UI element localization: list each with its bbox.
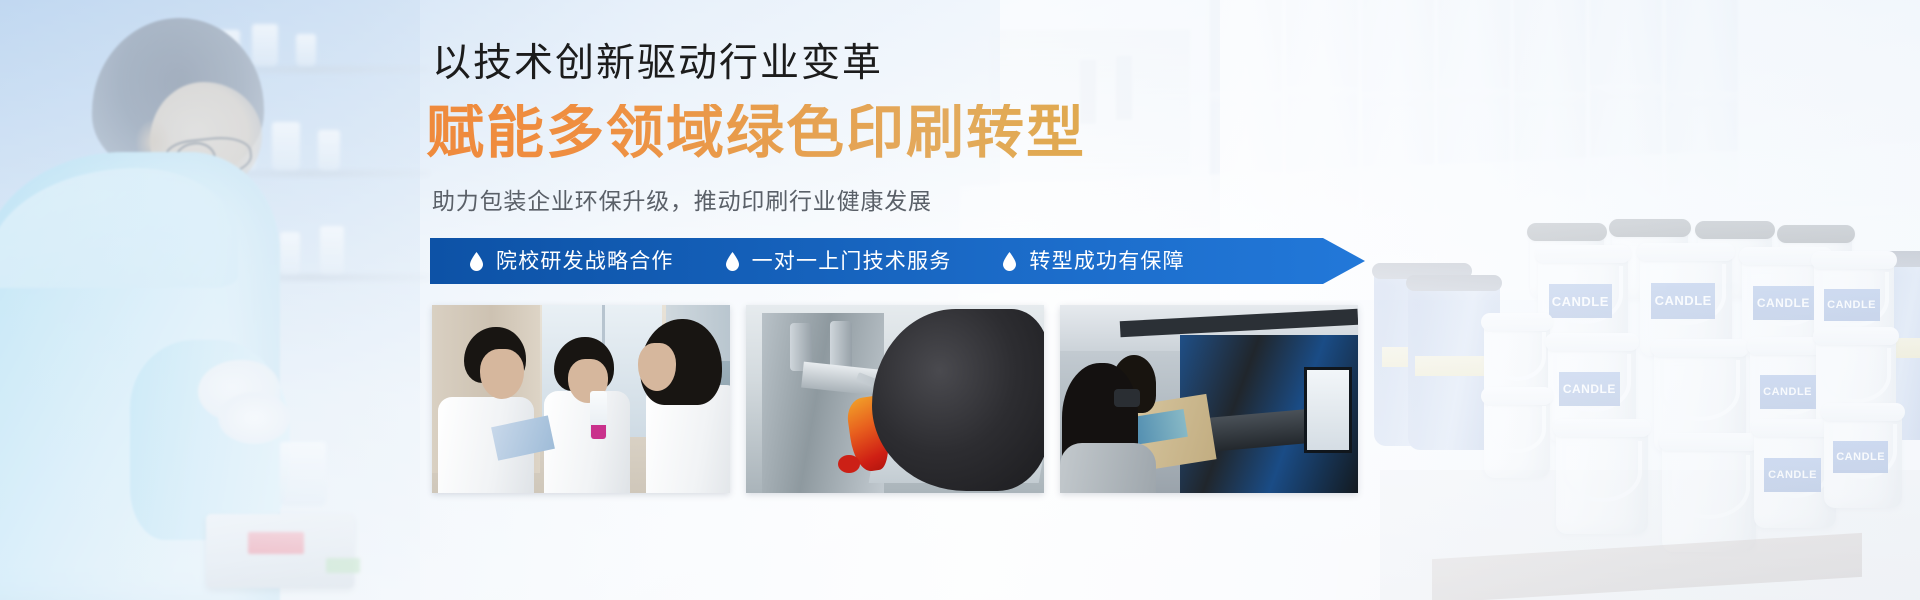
marketing-banner: CANDLE CANDLE CANDLE CANDLE CANDLE — [0, 0, 1920, 600]
photo-lab-researchers[interactable] — [432, 305, 730, 493]
photo1-sample-bottle — [590, 391, 607, 439]
feature-highlight-bar: 院校研发战略合作 一对一上门技术服务 转型成功有保障 — [430, 238, 1365, 284]
feature-item-label: 转型成功有保障 — [1029, 251, 1184, 272]
photo-digital-press[interactable] — [1060, 305, 1358, 493]
feature-item-1[interactable]: 院校研发战略合作 — [470, 251, 674, 272]
feature-item-2[interactable]: 一对一上门技术服务 — [726, 251, 952, 272]
banner-subline: 助力包装企业环保升级，推动印刷行业健康发展 — [432, 190, 932, 213]
banner-content: 以技术创新驱动行业变革 赋能多领域绿色印刷转型 助力包装企业环保升级，推动印刷行… — [0, 0, 1920, 600]
feature-item-3[interactable]: 转型成功有保障 — [1003, 251, 1184, 272]
photo3-operator-body — [1060, 443, 1156, 493]
feature-item-label: 一对一上门技术服务 — [752, 251, 952, 272]
photo2-ink-drop — [838, 455, 860, 473]
photo-ink-application[interactable] — [746, 305, 1044, 493]
photo3-control-screen — [1304, 367, 1352, 453]
photo2-cylinder — [830, 321, 852, 371]
water-drop-icon — [470, 252, 483, 271]
feature-item-list: 院校研发战略合作 一对一上门技术服务 转型成功有保障 — [430, 238, 1365, 284]
photo2-black-glove — [872, 309, 1044, 491]
banner-kicker: 以技术创新驱动行业变革 — [432, 44, 883, 83]
water-drop-icon — [726, 252, 739, 271]
feature-item-label: 院校研发战略合作 — [496, 251, 674, 272]
water-drop-icon — [1003, 252, 1016, 271]
photo3-face-mask — [1114, 389, 1140, 407]
photo1-lab-coat — [544, 391, 630, 493]
banner-headline: 赋能多领域绿色印刷转型 — [426, 104, 1086, 162]
photo-strip — [432, 305, 1358, 493]
